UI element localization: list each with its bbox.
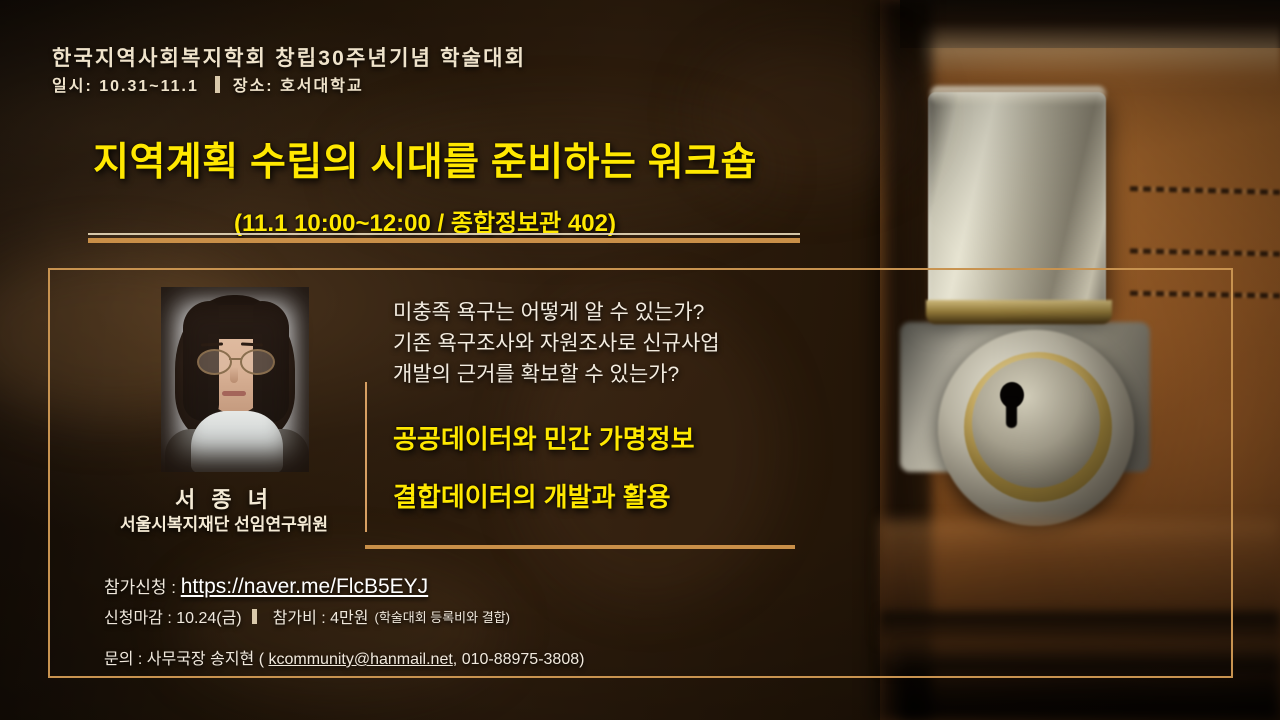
apply-link[interactable]: https://naver.me/FlcB5EYJ <box>181 575 428 598</box>
contact-prefix: 문의 : 사무국장 송지현 ( <box>104 651 268 668</box>
separator-bar-icon <box>215 76 220 93</box>
deadline-label: 신청마감 : 10.24(금) <box>104 604 242 628</box>
association-title: 한국지역사회복지학회 창립30주년기념 학술대회 <box>52 42 526 72</box>
avatar <box>161 287 309 472</box>
deadline-fee-row: 신청마감 : 10.24(금) 참가비 : 4만원 (학술대회 등록비와 결합) <box>104 604 510 628</box>
event-date-label: 일시: 10.31~11.1 <box>52 72 199 96</box>
question-line-3: 개발의 근거를 확보할 수 있는가? <box>393 359 720 390</box>
apply-row: 참가신청 : https://naver.me/FlcB5EYJ <box>104 573 428 599</box>
fee-label: 참가비 : 4만원 <box>273 604 369 628</box>
page-title: 지역계획 수립의 시대를 준비하는 워크숍 <box>0 131 1280 187</box>
fee-note: (학술대회 등록비와 결합) <box>374 607 509 626</box>
contact-phone: , 010-88975-3808) <box>453 651 585 668</box>
session-questions: 미충족 욕구는 어떻게 알 수 있는가? 기존 욕구조사와 자원조사로 신규사업… <box>393 297 720 390</box>
header-subline: 일시: 10.31~11.1 장소: 호서대학교 <box>52 72 364 96</box>
divider-lower <box>365 545 795 549</box>
event-place-label: 장소: 호서대학교 <box>233 72 364 96</box>
session-topic-line-2: 결합데이터의 개발과 활용 <box>393 477 671 514</box>
portrait-vignette <box>161 287 309 472</box>
session-topic-line-1: 공공데이터와 민간 가명정보 <box>393 419 695 456</box>
contact-row: 문의 : 사무국장 송지현 ( kcommunity@hanmail.net, … <box>104 645 584 669</box>
poster-slide: 한국지역사회복지학회 창립30주년기념 학술대회 일시: 10.31~11.1 … <box>0 0 1280 720</box>
question-line-1: 미충족 욕구는 어떻게 알 수 있는가? <box>393 297 720 328</box>
separator-bar-icon <box>252 609 257 624</box>
speaker-photo-wrapper <box>161 287 309 472</box>
divider-thin <box>88 233 800 235</box>
apply-label: 참가신청 : <box>104 578 181 597</box>
vertical-divider <box>365 382 367 532</box>
contact-email-link[interactable]: kcommunity@hanmail.net <box>268 651 452 668</box>
speaker-affiliation: 서울시복지재단 선임연구위원 <box>84 510 364 535</box>
question-line-2: 기존 욕구조사와 자원조사로 신규사업 <box>393 328 720 359</box>
divider-thick <box>88 238 800 243</box>
poster-content: 한국지역사회복지학회 창립30주년기념 학술대회 일시: 10.31~11.1 … <box>0 0 1280 720</box>
